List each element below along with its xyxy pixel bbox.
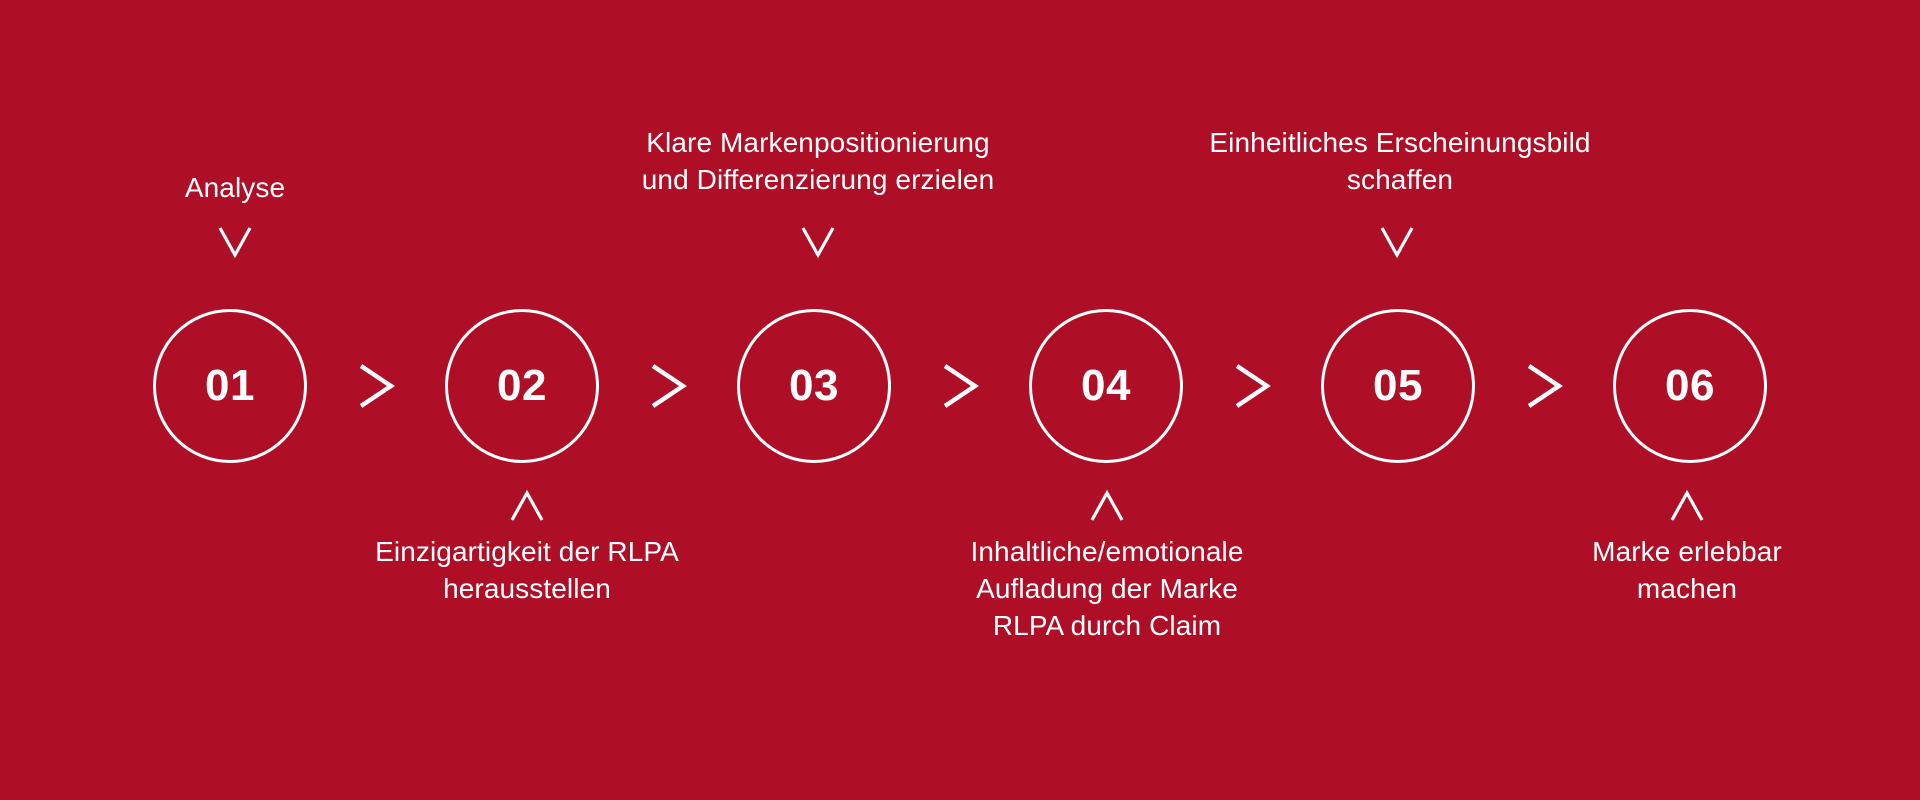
step-number-05: 05 [1373, 364, 1423, 408]
step-circle-03[interactable]: 03 [737, 309, 891, 463]
step-circle-02[interactable]: 02 [445, 309, 599, 463]
step-circle-01[interactable]: 01 [153, 309, 307, 463]
step-label-04: Inhaltliche/emotionale Aufladung der Mar… [887, 533, 1327, 645]
connector-down-03 [796, 222, 840, 262]
step-label-03: Klare Markenpositionierung und Differenz… [578, 124, 1058, 198]
step-label-05: Einheitliches Erscheinungsbild schaffen [1140, 124, 1660, 198]
connector-up-04 [1085, 486, 1129, 526]
step-number-06: 06 [1665, 364, 1715, 408]
step-label-06: Marke erlebbar machen [1507, 533, 1867, 607]
step-number-02: 02 [497, 364, 547, 408]
step-circle-04[interactable]: 04 [1029, 309, 1183, 463]
connector-up-02 [505, 486, 549, 526]
step-circle-06[interactable]: 06 [1613, 309, 1767, 463]
chevron-right-icon-4 [1183, 360, 1321, 412]
connector-up-06 [1665, 486, 1709, 526]
step-label-01: Analyse [75, 169, 395, 206]
chevron-right-icon-1 [307, 360, 445, 412]
process-step-row: 01 02 03 04 [0, 306, 1920, 466]
chevron-right-icon-2 [599, 360, 737, 412]
connector-down-01 [213, 222, 257, 262]
chevron-right-icon-5 [1475, 360, 1613, 412]
step-number-01: 01 [205, 364, 255, 408]
step-number-04: 04 [1081, 364, 1131, 408]
step-number-03: 03 [789, 364, 839, 408]
connector-down-05 [1375, 222, 1419, 262]
chevron-right-icon-3 [891, 360, 1029, 412]
step-label-02: Einzigartigkeit der RLPA herausstellen [287, 533, 767, 607]
step-circle-05[interactable]: 05 [1321, 309, 1475, 463]
diagram-canvas: Analyse Klare Markenpositionierung und D… [0, 0, 1920, 800]
